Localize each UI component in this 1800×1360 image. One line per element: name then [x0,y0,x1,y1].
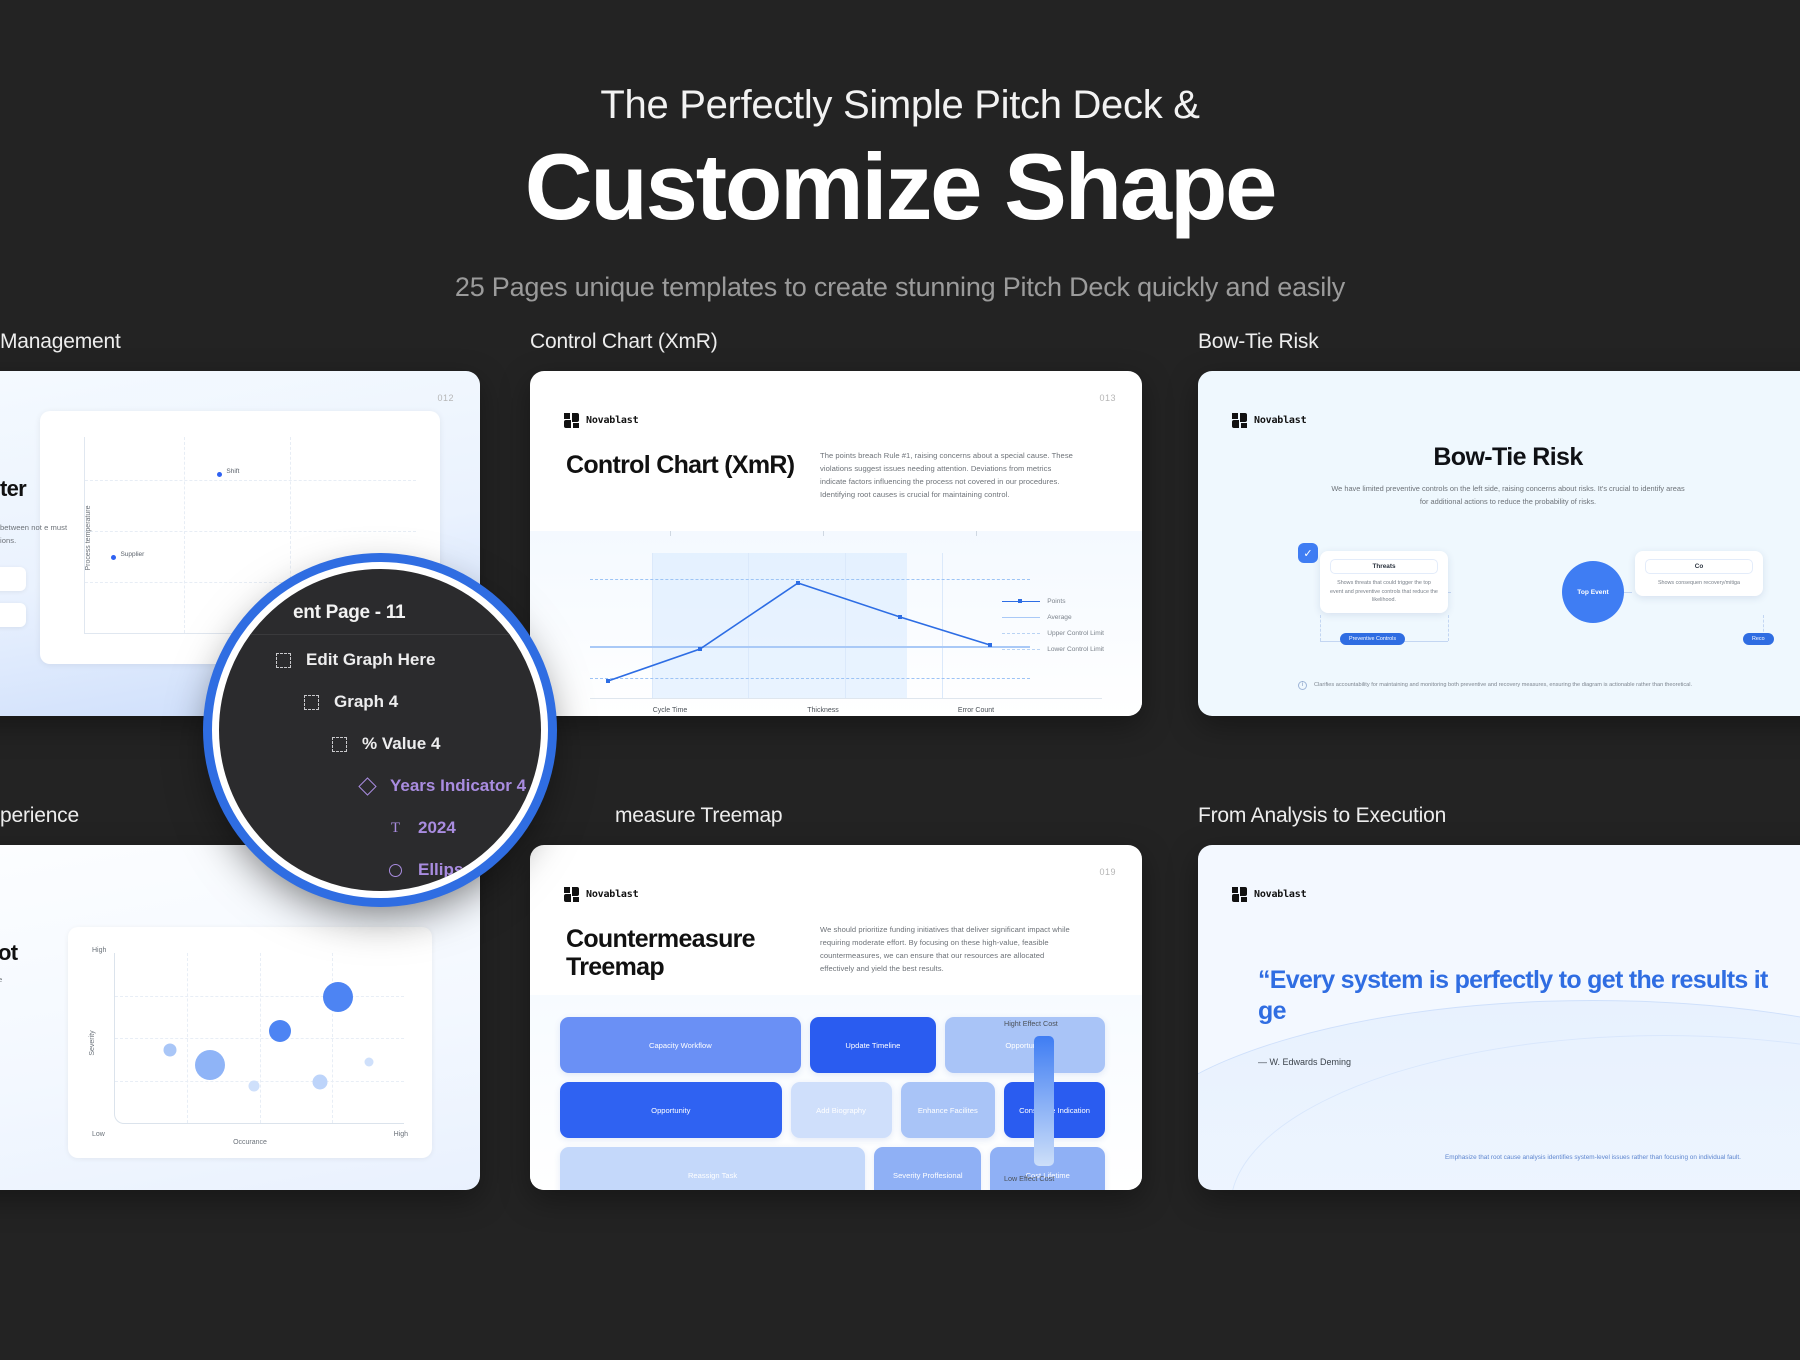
text-icon: T [387,820,404,837]
top-event-label: Top Event [1577,589,1608,596]
scatter-bubble [195,1050,225,1080]
bow-tie-consequences-node[interactable]: Co Shows consequen recovery/mitiga [1635,551,1763,596]
brand-logo-quote: Novablast [1232,887,1306,902]
treemap-scale: Hight Effect Cost Low Effect Cost [1004,1019,1112,1183]
treemap-tile[interactable]: Capacity Workflow [560,1017,801,1073]
brand-name: Novablast [586,415,638,426]
threats-text: Shows threats that could trigger the top… [1330,579,1438,605]
frame-icon [303,694,320,711]
slide-number-risk-management: 012 [437,393,454,403]
control-chart-x-axis [590,698,1102,699]
bow-tie-threats-node[interactable]: Threats Shows threats that could trigger… [1320,551,1448,613]
layer-item[interactable]: Years Indicator 4 [219,765,541,807]
legend-swatch-ucl [1002,633,1040,634]
legend-item-average: Average [1002,609,1104,625]
bow-tie-footnote-text: Clarifies accountability for maintaining… [1314,681,1692,691]
layer-item[interactable]: Ellipse 6 [219,849,541,891]
card-label-quote: From Analysis to Execution [1198,804,1800,828]
slide-number-treemap: 019 [1099,867,1116,877]
legend-label-average: Average [1047,614,1071,621]
bow-tie-footnote: i Clarifies accountability for maintaini… [1298,681,1800,691]
card-label-treemap: measure Treemap [530,804,1142,828]
control-chart-plot: Cycle Time Thickness Error Count Points … [530,531,1142,716]
treemap-tile[interactable]: Severity Proffesional [874,1147,981,1190]
frame-icon [275,652,292,669]
layers-list: Edit Graph HereGraph 4% Value 4Years Ind… [219,639,541,891]
card-label-control-chart: Control Chart (XmR) [530,330,1142,354]
control-chart-canvas [590,553,1030,698]
treemap-tile[interactable]: Opportunity [560,1082,782,1138]
layer-item[interactable]: Edit Graph Here [219,639,541,681]
scatter-bubble [323,982,353,1012]
legend-label-ucl: Upper Control Limit [1047,630,1104,637]
layer-item-label: Years Indicator 4 [390,776,526,796]
hero-subtitle: 25 Pages unique templates to create stun… [0,272,1800,303]
preventive-controls-pill[interactable]: Preventive Controls [1340,633,1405,645]
scatter-bubble [248,1080,259,1091]
slide-experience[interactable]: ot e [0,845,480,1190]
novablast-logo-icon [1232,413,1247,428]
bow-tie-diagram: ✓ Threats Shows threats that could trigg… [1198,521,1800,691]
control-chart-xlabel-2: Error Count [958,707,994,714]
slide-body-risk-management: between not e must ions. [0,521,84,547]
ellipse-icon [387,862,404,879]
slide-title-bow-tie: Bow-Tie Risk [1198,443,1800,472]
consequences-text: Shows consequen recovery/mitiga [1645,579,1753,588]
risk-chip-1[interactable] [0,567,26,591]
control-chart-legend: Points Average Upper Control Limit [1002,593,1104,657]
treemap-scale-top: Hight Effect Cost [1004,1019,1112,1028]
brand-name: Novablast [1254,889,1306,900]
slide-title-experience: ot [0,941,17,966]
brand-logo-treemap: Novablast [564,887,638,902]
slide-body-treemap: We should prioritize funding initiatives… [820,923,1070,975]
control-chart-series [590,553,1030,698]
hero-title: Customize Shape [0,140,1800,234]
quote-attribution: — W. Edwards Deming [1258,1057,1351,1067]
slide-number-control-chart: 013 [1099,393,1116,403]
slide-quote[interactable]: Novablast “Every system is perfectly to … [1198,845,1800,1190]
legend-swatch-points [1002,601,1040,602]
slide-title-control-chart: Control Chart (XmR) [566,451,794,479]
scatter-bubble [269,1020,291,1042]
card-quote[interactable]: From Analysis to Execution Novablast “Ev… [1198,804,1800,1190]
legend-item-points: Points [1002,593,1104,609]
treemap-chart: Capacity WorkflowUpdate TimelineOpportun… [530,995,1142,1190]
card-treemap[interactable]: measure Treemap 019 Novablast Countermea… [530,804,1142,1190]
control-chart-xlabel-1: Thickness [807,707,839,714]
consequences-label: Co [1645,559,1753,574]
risk-point-supplier [111,555,116,560]
legend-swatch-lcl [1002,649,1040,650]
layer-item-label: % Value 4 [362,734,440,754]
layers-panel-header: ent Page - 11 [219,591,541,635]
check-icon[interactable]: ✓ [1298,543,1318,563]
slide-body-bow-tie: We have limited preventive controls on t… [1328,483,1688,508]
scatter-x-high: High [394,1131,408,1138]
novablast-logo-icon [564,887,579,902]
risk-point-shift-label: Shift [226,468,239,475]
hero-section: The Perfectly Simple Pitch Deck & Custom… [0,0,1800,303]
risk-chip-2[interactable] [0,603,26,627]
layer-item-label: Graph 4 [334,692,398,712]
legend-item-lcl: Lower Control Limit [1002,641,1104,657]
recovery-controls-pill[interactable]: Reco [1743,633,1774,645]
info-icon: i [1298,681,1307,690]
scatter-bubble [163,1043,176,1056]
scatter-bubble [365,1057,374,1066]
card-label-risk-management: Management [0,330,480,354]
layer-item[interactable]: % Value 4 [219,723,541,765]
quote-footnote: Emphasize that root cause analysis ident… [1428,1153,1758,1164]
slide-control-chart[interactable]: 013 Novablast Control Chart (XmR) The po… [530,371,1142,716]
legend-label-lcl: Lower Control Limit [1047,646,1104,653]
risk-point-shift [217,472,222,477]
scatter-bubble [313,1075,328,1090]
card-label-bow-tie: Bow-Tie Risk [1198,330,1800,354]
diamond-icon [359,778,376,795]
threats-label: Threats [1330,559,1438,574]
brand-logo-bow-tie: Novablast [1232,413,1306,428]
legend-swatch-average [1002,617,1040,618]
risk-point-supplier-label: Supplier [120,551,144,558]
slide-title-treemap: Countermeasure Treemap [566,925,766,981]
legend-item-ucl: Upper Control Limit [1002,625,1104,641]
slide-body-control-chart: The points breach Rule #1, raising conce… [820,449,1076,501]
slide-body-experience: e [0,973,58,986]
treemap-scale-bar [1034,1036,1054,1166]
hero-eyebrow: The Perfectly Simple Pitch Deck & [0,82,1800,128]
card-control-chart[interactable]: Control Chart (XmR) 013 Novablast Contro… [530,330,1142,716]
card-bow-tie[interactable]: Bow-Tie Risk Novablast Bow-Tie Risk We h… [1198,330,1800,716]
novablast-logo-icon [1232,887,1247,902]
scatter-y-low: Low [92,1131,105,1138]
scatter-axes [114,953,404,1124]
layer-item[interactable]: Graph 4 [219,681,541,723]
treemap-tile[interactable]: Enhance Facilites [901,1082,996,1138]
treemap-scale-bottom: Low Effect Cost [1004,1174,1112,1183]
legend-label-points: Points [1047,598,1065,605]
frame-icon [331,736,348,753]
quote-text: “Every system is perfectly to get the re… [1258,965,1798,1028]
magnifier-overlay[interactable]: ent Page - 11 Edit Graph HereGraph 4% Va… [212,562,548,898]
novablast-logo-icon [564,413,579,428]
slide-bow-tie[interactable]: Novablast Bow-Tie Risk We have limited p… [1198,371,1800,716]
layer-item-label: 2024 [418,818,456,838]
brand-name: Novablast [1254,415,1306,426]
scatter-y-high: High [92,947,106,954]
layer-item[interactable]: T2024 [219,807,541,849]
layers-panel: ent Page - 11 Edit Graph HereGraph 4% Va… [219,569,541,891]
treemap-tile[interactable]: Add Biography [791,1082,892,1138]
slide-title-risk-management: ter [0,477,26,502]
layer-item-label: Edit Graph Here [306,650,435,670]
brand-name: Novablast [586,889,638,900]
control-chart-xlabel-0: Cycle Time [653,707,688,714]
layer-item-label: Ellipse 6 [418,860,487,880]
scatter-panel: High Low Occurance High Severity [68,927,432,1158]
risk-matrix-y-label: Process temperature [85,505,92,570]
scatter-y-label: Severity [89,1030,96,1055]
treemap-tile[interactable]: Update Timeline [810,1017,936,1073]
treemap-tile[interactable]: Reassign Task [560,1147,865,1190]
brand-logo: Novablast [564,413,638,428]
top-event-node[interactable]: Top Event [1562,561,1624,623]
scatter-x-label: Occurance [233,1139,267,1146]
slide-treemap[interactable]: 019 Novablast Countermeasure Treemap We … [530,845,1142,1190]
